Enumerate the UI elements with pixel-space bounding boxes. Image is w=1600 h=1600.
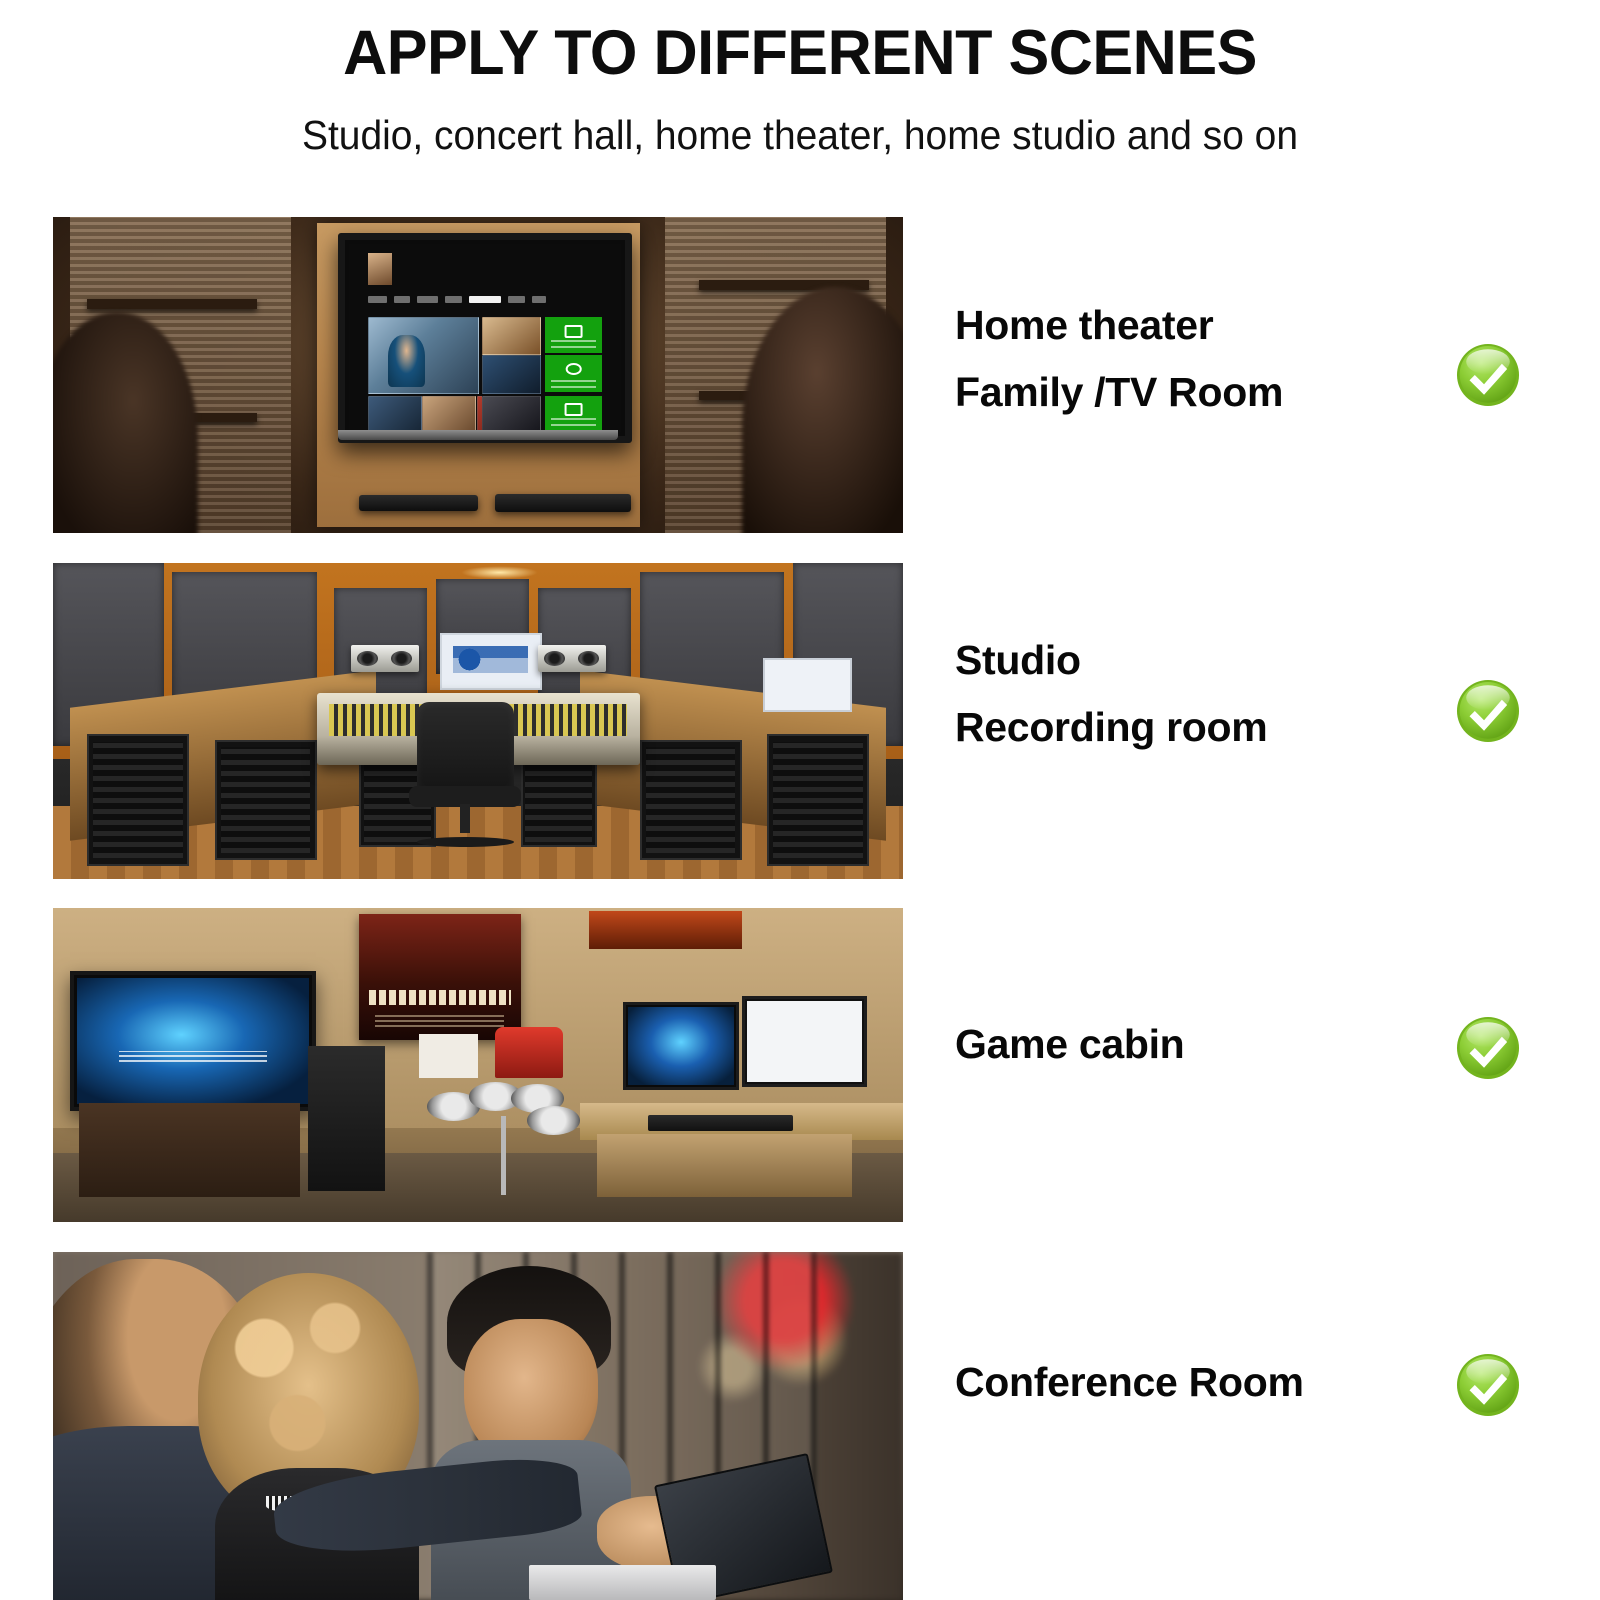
ceiling-light bbox=[461, 566, 538, 579]
content-tile[interactable] bbox=[482, 317, 541, 355]
scene-label-home-theater: Home theater Family /TV Room bbox=[955, 305, 1283, 413]
shelf bbox=[87, 299, 257, 308]
label-line: Family /TV Room bbox=[955, 372, 1283, 413]
equipment-rack bbox=[87, 734, 189, 867]
nav-item-music[interactable] bbox=[508, 296, 524, 303]
keyboard bbox=[648, 1115, 793, 1131]
tile-play-tv-and-movies[interactable] bbox=[545, 355, 602, 393]
desk-panel bbox=[597, 1134, 852, 1197]
drum-pad bbox=[527, 1106, 580, 1135]
computer-monitor-right bbox=[742, 996, 867, 1087]
chair-stem bbox=[460, 804, 470, 833]
chair-back bbox=[417, 702, 514, 792]
nav-item-home[interactable] bbox=[394, 296, 410, 303]
media-shelf bbox=[308, 1046, 385, 1190]
kinect-sensor bbox=[359, 495, 478, 511]
featured-tile[interactable] bbox=[368, 317, 479, 394]
office-chair bbox=[402, 702, 530, 847]
movie-poster-army-of-darkness bbox=[359, 914, 521, 1040]
label-line: Studio bbox=[955, 640, 1267, 681]
tv-icon bbox=[564, 325, 583, 338]
vintage-king-audio-logo bbox=[453, 646, 527, 673]
studio-monitor-speaker-left bbox=[351, 645, 419, 672]
computer-monitor-left bbox=[623, 1002, 740, 1090]
drum-stand bbox=[501, 1116, 506, 1195]
electronic-drum-kit bbox=[427, 1071, 589, 1203]
label-line: Home theater bbox=[955, 305, 1283, 346]
conference-room-photo bbox=[53, 1252, 903, 1600]
content-tile[interactable] bbox=[482, 355, 541, 395]
tv-stand bbox=[79, 1103, 300, 1197]
tile-watch-tv-and-movies[interactable] bbox=[545, 317, 602, 353]
tile-label bbox=[551, 378, 597, 388]
nav-item-games[interactable] bbox=[445, 296, 461, 303]
tile-label bbox=[551, 339, 597, 348]
equipment-rack bbox=[640, 740, 742, 860]
tile-popular-stuff[interactable] bbox=[545, 396, 602, 430]
equipment-rack bbox=[215, 740, 317, 860]
grid-icon bbox=[564, 403, 583, 416]
home-theater-photo bbox=[53, 217, 903, 533]
check-circle-icon bbox=[1455, 1015, 1521, 1081]
red-chair-back bbox=[495, 1027, 563, 1077]
scene-label-studio: Studio Recording room bbox=[955, 640, 1267, 748]
content-tile[interactable] bbox=[422, 396, 476, 432]
poster-subtitle bbox=[375, 1012, 504, 1027]
movie-poster-secondary bbox=[589, 911, 742, 949]
nav-item-tv-and-movies[interactable] bbox=[469, 296, 502, 303]
check-circle-icon bbox=[1455, 678, 1521, 744]
laptop bbox=[529, 1565, 716, 1600]
gaming-television bbox=[70, 971, 316, 1111]
nav-item-my-pins[interactable] bbox=[368, 296, 387, 303]
check-circle-icon bbox=[1455, 1352, 1521, 1418]
equipment-rack bbox=[521, 759, 598, 847]
content-tile[interactable] bbox=[368, 396, 422, 432]
game-console bbox=[495, 494, 631, 513]
game-screen bbox=[77, 978, 309, 1104]
xbox-dashboard bbox=[349, 244, 622, 432]
poster-title bbox=[369, 990, 511, 1005]
avatar bbox=[368, 253, 393, 285]
chair-base bbox=[417, 837, 514, 847]
content-tile[interactable] bbox=[482, 396, 541, 432]
studio-photo bbox=[53, 563, 903, 879]
scene-label-conference-room: Conference Room bbox=[955, 1362, 1304, 1403]
search-icon bbox=[565, 363, 582, 375]
decor-cloth bbox=[419, 1034, 479, 1078]
dashboard-nav bbox=[368, 295, 602, 308]
scene-label-game-cabin: Game cabin bbox=[955, 1024, 1184, 1065]
game-cabin-photo bbox=[53, 908, 903, 1222]
nav-item-trending[interactable] bbox=[417, 296, 438, 303]
tile-label bbox=[551, 417, 597, 426]
page-title: APPLY TO DIFFERENT SCENES bbox=[24, 22, 1576, 85]
page-subtitle: Studio, concert hall, home theater, home… bbox=[40, 115, 1560, 156]
studio-monitor-speaker-right bbox=[538, 645, 606, 672]
label-line: Recording room bbox=[955, 707, 1267, 748]
label-line: Game cabin bbox=[955, 1024, 1184, 1065]
infographic-page: APPLY TO DIFFERENT SCENES Studio, concer… bbox=[0, 0, 1600, 1600]
tv-soundbar bbox=[338, 430, 619, 439]
check-circle-icon bbox=[1455, 342, 1521, 408]
header: APPLY TO DIFFERENT SCENES Studio, concer… bbox=[0, 0, 1600, 156]
equipment-rack bbox=[767, 734, 869, 867]
studio-display bbox=[440, 633, 542, 691]
computer-monitor bbox=[763, 658, 852, 713]
television bbox=[338, 233, 633, 443]
label-line: Conference Room bbox=[955, 1362, 1304, 1403]
nav-item-apps[interactable] bbox=[532, 296, 546, 303]
